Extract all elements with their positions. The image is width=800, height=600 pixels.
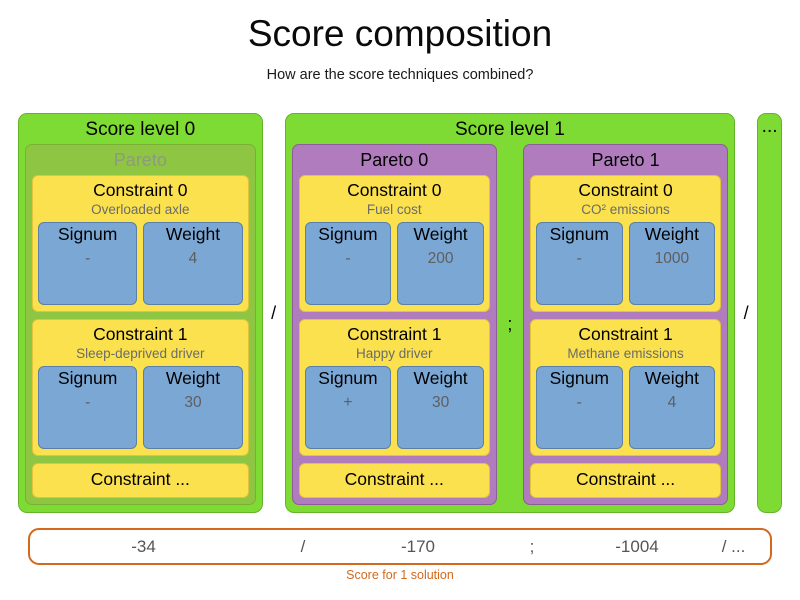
weight-label: Weight (414, 223, 468, 245)
constraint-l1-p1-more: Constraint ... (530, 463, 721, 498)
pareto-group-level0-0-title: Pareto (32, 149, 249, 175)
score-separator-1: ; (487, 537, 577, 557)
pareto-group-level1-1-title: Pareto 1 (530, 149, 721, 175)
constraint-title: Constraint 0 (38, 179, 243, 201)
score-composition-diagram: Score composition How are the score tech… (0, 0, 800, 600)
constraint-more-label: Constraint ... (38, 468, 243, 491)
signum-label: Signum (58, 223, 117, 245)
pareto-group-level0-0-constraints: Constraint 0 Overloaded axle Signum - We… (32, 175, 249, 498)
signum-label: Signum (58, 367, 117, 389)
constraint-title: Constraint 0 (305, 179, 484, 201)
score-level-1-body: Pareto 0 Constraint 0 Fuel cost Signum - (292, 144, 729, 505)
signum-label: Signum (550, 367, 609, 389)
weight-box: Weight 4 (143, 222, 242, 305)
pareto-group-level1-1-constraints: Constraint 0 CO² emissions Signum - Weig… (530, 175, 721, 498)
constraint-l0-p0-more: Constraint ... (32, 463, 249, 498)
signum-weight-row: Signum - Weight 4 (536, 366, 715, 449)
header: Score composition How are the score tech… (0, 0, 800, 83)
pareto-group-level0-0: Pareto Constraint 0 Overloaded axle Sign… (25, 144, 256, 505)
constraint-title: Constraint 1 (305, 323, 484, 345)
score-value-pareto0: -170 (349, 537, 487, 557)
weight-value: 4 (668, 393, 677, 413)
score-level-1-title: Score level 1 (292, 119, 729, 144)
separator-level1-more: / (735, 113, 757, 513)
weight-value: 30 (432, 393, 449, 413)
constraint-l1-p0-more: Constraint ... (299, 463, 490, 498)
score-value-level0: -34 (30, 537, 257, 557)
constraint-description: Fuel cost (305, 201, 484, 222)
signum-box: Signum + (305, 366, 392, 449)
constraint-l1-p0-c1: Constraint 1 Happy driver Signum + Weigh… (299, 319, 490, 456)
pareto-group-level1-1: Pareto 1 Constraint 0 CO² emissions Sign… (523, 144, 728, 505)
constraint-description: Overloaded axle (38, 201, 243, 222)
signum-box: Signum - (38, 222, 137, 305)
score-separator-0: / (257, 537, 349, 557)
signum-value: - (577, 393, 582, 413)
weight-box: Weight 200 (397, 222, 484, 305)
signum-label: Signum (550, 223, 609, 245)
levels-container: Score level 0 Pareto Constraint 0 Overlo… (0, 113, 800, 513)
constraint-l1-p0-c0: Constraint 0 Fuel cost Signum - Weight 2… (299, 175, 490, 312)
signum-weight-row: Signum + Weight 30 (305, 366, 484, 449)
score-bar: -34 / -170 ; -1004 / ... (28, 528, 772, 565)
pareto-group-level1-0-title: Pareto 0 (299, 149, 490, 175)
score-level-0: Score level 0 Pareto Constraint 0 Overlo… (18, 113, 263, 513)
page-title: Score composition (0, 14, 800, 55)
weight-value: 200 (428, 249, 454, 269)
signum-value: - (345, 249, 350, 269)
constraint-l0-p0-c1: Constraint 1 Sleep-deprived driver Signu… (32, 319, 249, 456)
constraint-more-label: Constraint ... (536, 468, 715, 491)
weight-box: Weight 1000 (629, 222, 716, 305)
signum-box: Signum - (536, 222, 623, 305)
weight-box: Weight 30 (397, 366, 484, 449)
score-value-pareto1: -1004 (577, 537, 697, 557)
signum-box: Signum - (536, 366, 623, 449)
constraint-title: Constraint 1 (536, 323, 715, 345)
signum-box: Signum - (305, 222, 392, 305)
page-subtitle: How are the score techniques combined? (0, 67, 800, 83)
weight-value: 30 (184, 393, 201, 413)
signum-label: Signum (318, 223, 377, 245)
weight-label: Weight (645, 223, 699, 245)
score-level-more-label: ... (762, 118, 778, 135)
constraint-description: CO² emissions (536, 201, 715, 222)
weight-box: Weight 4 (629, 366, 716, 449)
separator-level0-level1: / (263, 113, 285, 513)
separator-pareto0-pareto1: ; (505, 314, 515, 335)
weight-value: 4 (189, 249, 198, 269)
signum-weight-row: Signum - Weight 200 (305, 222, 484, 305)
signum-weight-row: Signum - Weight 30 (38, 366, 243, 449)
constraint-more-label: Constraint ... (305, 468, 484, 491)
pareto-group-level1-0-constraints: Constraint 0 Fuel cost Signum - Weight 2… (299, 175, 490, 498)
signum-weight-row: Signum - Weight 1000 (536, 222, 715, 305)
score-level-1: Score level 1 Pareto 0 Constraint 0 Fuel… (285, 113, 736, 513)
score-level-0-body: Pareto Constraint 0 Overloaded axle Sign… (25, 144, 256, 505)
weight-value: 1000 (655, 249, 689, 269)
pareto-group-level1-0: Pareto 0 Constraint 0 Fuel cost Signum - (292, 144, 497, 505)
score-separator-2: / ... (697, 537, 770, 557)
score-level-0-title: Score level 0 (25, 119, 256, 144)
score-summary: -34 / -170 ; -1004 / ... Score for 1 sol… (28, 528, 772, 582)
constraint-l1-p1-c1: Constraint 1 Methane emissions Signum - … (530, 319, 721, 456)
weight-label: Weight (414, 367, 468, 389)
signum-value: + (343, 393, 352, 413)
constraint-description: Sleep-deprived driver (38, 345, 243, 366)
score-level-more: ... (757, 113, 782, 513)
weight-box: Weight 30 (143, 366, 242, 449)
signum-label: Signum (318, 367, 377, 389)
weight-label: Weight (645, 367, 699, 389)
signum-value: - (85, 249, 90, 269)
score-caption: Score for 1 solution (28, 568, 772, 582)
constraint-l1-p1-c0: Constraint 0 CO² emissions Signum - Weig… (530, 175, 721, 312)
weight-label: Weight (166, 367, 220, 389)
constraint-title: Constraint 0 (536, 179, 715, 201)
constraint-description: Methane emissions (536, 345, 715, 366)
signum-weight-row: Signum - Weight 4 (38, 222, 243, 305)
constraint-title: Constraint 1 (38, 323, 243, 345)
signum-value: - (577, 249, 582, 269)
constraint-l0-p0-c0: Constraint 0 Overloaded axle Signum - We… (32, 175, 249, 312)
constraint-description: Happy driver (305, 345, 484, 366)
weight-label: Weight (166, 223, 220, 245)
signum-value: - (85, 393, 90, 413)
signum-box: Signum - (38, 366, 137, 449)
